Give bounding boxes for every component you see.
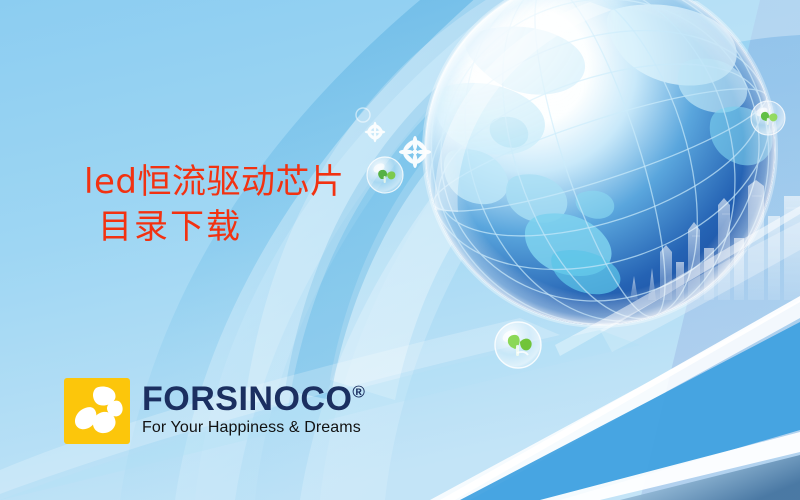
bubble-icon — [367, 157, 403, 193]
logo-wordmark-block: FORSINOCO® For Your Happiness & Dreams — [142, 378, 365, 437]
bubble-icon — [751, 101, 785, 135]
petal-group — [75, 387, 123, 434]
company-logo: FORSINOCO® For Your Happiness & Dreams — [64, 378, 365, 444]
logo-company-name: FORSINOCO® — [142, 382, 365, 416]
forsinoco-petal-mark — [64, 378, 130, 444]
petal-left — [75, 407, 96, 429]
bubble-icon — [495, 322, 541, 368]
banner-canvas: led恒流驱动芯片 目录下载 FORSINOCO® For Your Happi… — [0, 0, 800, 500]
registered-trademark-icon: ® — [352, 383, 365, 402]
logo-name-text: FORSINOCO — [142, 380, 352, 418]
logo-tagline: For Your Happiness & Dreams — [142, 419, 365, 437]
